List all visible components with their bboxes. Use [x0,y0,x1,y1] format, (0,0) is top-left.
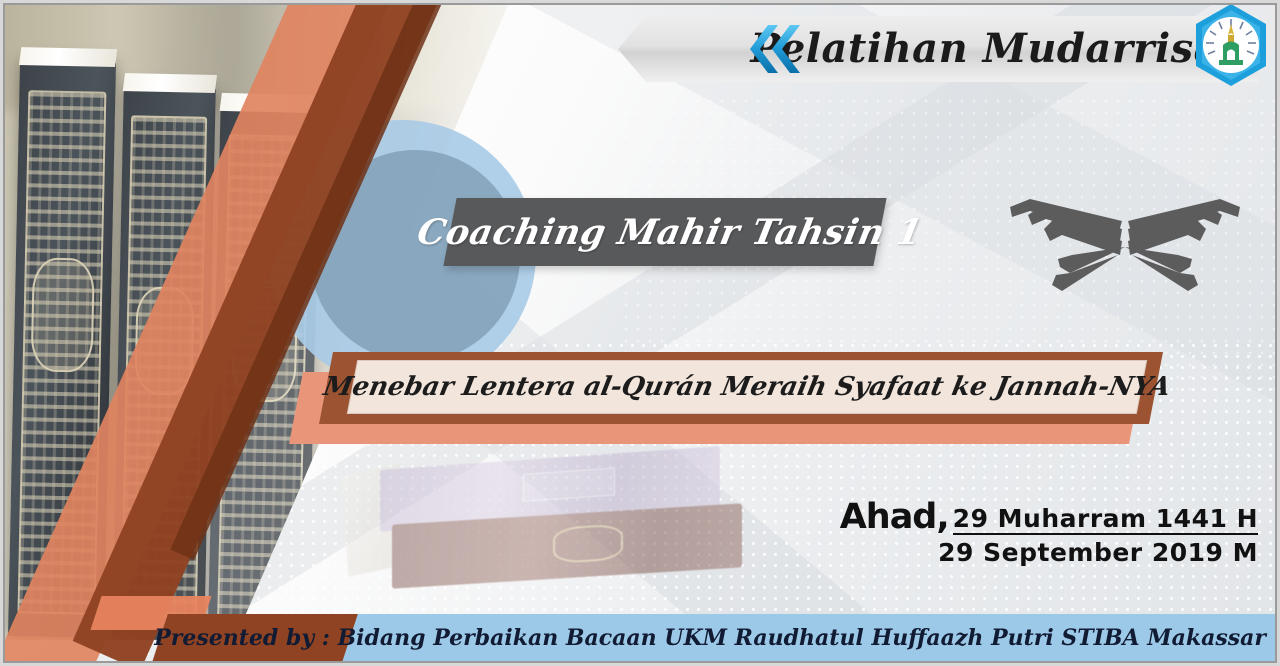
date-day-name: Ahad, [840,500,949,535]
date-gregorian: 29 September 2019 M [840,540,1258,566]
date-hijri: 29 Muharram 1441 H [953,506,1258,535]
stacked-qurans-photo [300,430,860,630]
footer-credit: Presented by : Bidang Perbaikan Bacaan U… [290,614,1266,662]
double-chevron-left-icon [742,22,802,76]
event-date: Ahad, 29 Muharram 1441 H 29 September 20… [840,500,1258,566]
header-title: Pelatihan Mudarrisah [800,12,1200,84]
open-quran-rehal-icon [1000,185,1250,315]
date-row-hijri: Ahad, 29 Muharram 1441 H [840,500,1258,535]
poster-canvas: Pelatihan Mudarrisah [0,0,1280,666]
main-title: Coaching Mahir Tahsin 1 [448,198,891,266]
stiba-logo [1190,2,1272,88]
subtitle: Menebar Lentera al-Qurán Meraih Syafaat … [347,360,1147,414]
